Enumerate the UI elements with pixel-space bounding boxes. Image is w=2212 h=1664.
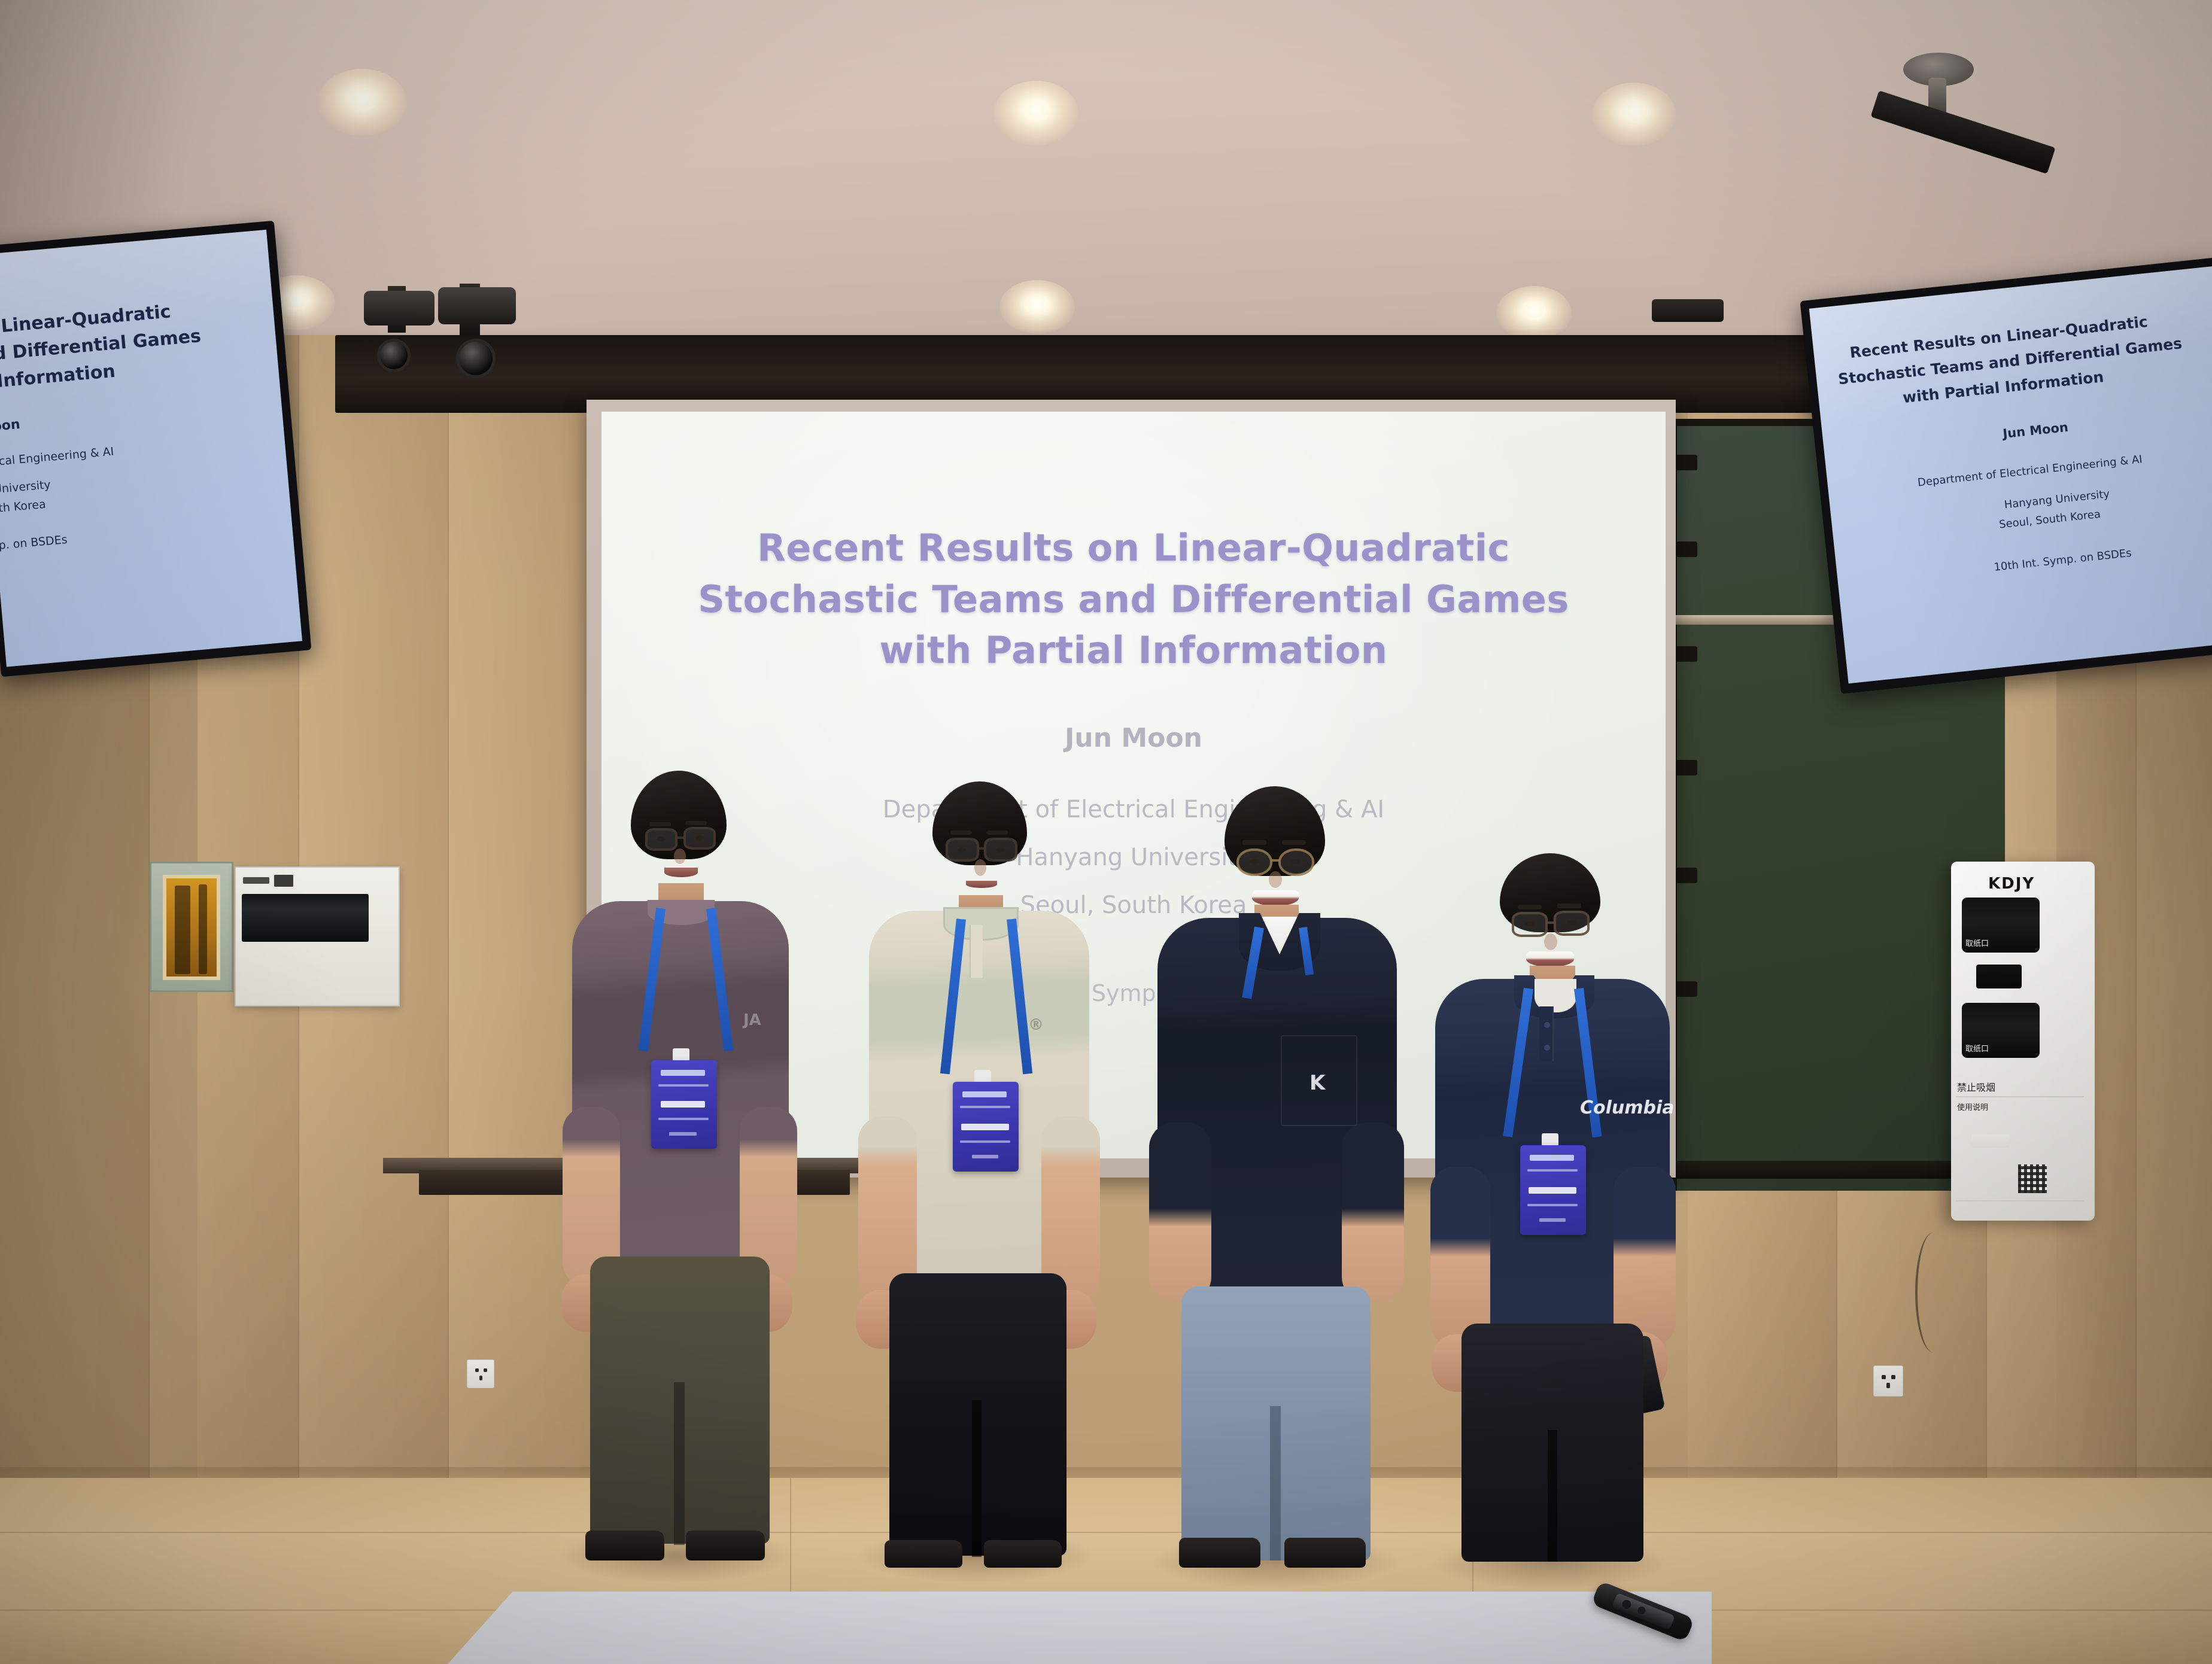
person-2-badge-logo [962, 1091, 1007, 1097]
person-4-glasses-bridge [1546, 921, 1555, 924]
person-2-brow-right [986, 831, 1008, 835]
person-2-brow-left [950, 831, 972, 835]
person-4-eye-left [1525, 921, 1535, 926]
wall-outlet-left[interactable] [467, 1359, 494, 1388]
right-wall-monitor: Recent Results on Linear-Quadratic Stoch… [1800, 257, 2212, 694]
chalkboard-clip-3 [1676, 646, 1697, 662]
fire-cabinet-glass [163, 875, 220, 980]
chalkboard-tray [1670, 1161, 1951, 1179]
left-monitor-screen: on Linear-Quadratic and Differential Gam… [0, 230, 302, 667]
left-monitor-line-4: Moon [0, 417, 21, 436]
person-3-arm-right [1342, 1122, 1404, 1302]
person-4-placket [1539, 1006, 1554, 1061]
wall-unit-tray [1971, 1134, 2010, 1148]
wall-unit-window-top-label: 取纸口 [1965, 937, 1989, 948]
person-2-shoe-right [984, 1540, 1062, 1568]
person-1-badge-name [661, 1101, 705, 1108]
wall-unit-instructions: 使用说明 [1957, 1101, 1988, 1112]
person-2-pants-gap [972, 1400, 982, 1557]
left-wall-monitor: on Linear-Quadratic and Differential Gam… [0, 221, 311, 677]
ceiling-light-5 [999, 280, 1075, 334]
person-1-glasses-bridge [676, 836, 685, 839]
outlet-hole-2 [484, 1368, 487, 1372]
person-2-badge-clip [974, 1070, 991, 1083]
right-monitor-line-6: Hanyang University [2004, 488, 2110, 511]
person-3-brow-right [1282, 840, 1306, 845]
person-3-arm-left [1149, 1122, 1211, 1302]
wall-unit-window-bottom-label: 取纸口 [1965, 1042, 1989, 1054]
person-4-pants-gap [1548, 1430, 1557, 1562]
person-2-badge-name [961, 1124, 1009, 1130]
person-4-badge[interactable] [1520, 1145, 1586, 1235]
wall-outlet-right[interactable] [1873, 1365, 1903, 1397]
camera-3-bracket [1652, 299, 1724, 322]
ceiling-light-2 [993, 81, 1078, 145]
right-monitor-line-5: Department of Electrical Engineering & A… [1917, 453, 2143, 489]
left-monitor-line-5: ctrical Engineering & AI [0, 445, 114, 470]
person-4-badge-name [1529, 1187, 1576, 1194]
person-3-shoe-right [1284, 1538, 1366, 1568]
electrical-panel-label [243, 877, 269, 884]
person-2-mouth [966, 881, 997, 888]
person-4: Columbia [1430, 856, 1676, 1562]
wall-unit-brand: KDJY [1988, 875, 2035, 893]
outlet-hole-6 [1886, 1383, 1890, 1388]
chalkboard-clip-5 [1676, 868, 1697, 883]
camera-2-lens [456, 339, 496, 378]
outlet-hole-5 [1891, 1375, 1895, 1379]
person-2-badge-line-3 [972, 1155, 998, 1158]
person-4-badge-logo [1530, 1155, 1574, 1161]
wall-unit-notice: 禁止吸烟 [1957, 1079, 1995, 1094]
slide-title-line-2: Stochastic Teams and Differential Games [601, 574, 1666, 625]
person-1: JA [557, 772, 796, 1562]
slide-author: Jun Moon [601, 723, 1666, 753]
lecture-hall-photo: Recent Results on Linear-Quadratic Stoch… [0, 0, 2212, 1664]
camera-1-body [364, 291, 434, 326]
chalkboard-clip-6 [1676, 981, 1697, 997]
person-2-shirt-logo: ® [1028, 1016, 1044, 1034]
person-1-badge-logo [661, 1070, 705, 1076]
person-1-shirt-logo: JA [743, 1011, 761, 1029]
person-4-polo-button-1 [1544, 1022, 1550, 1028]
right-monitor-line-7: Seoul, South Korea [1998, 508, 2101, 531]
person-3-shoe-left [1179, 1538, 1260, 1568]
person-4-polo-button-2 [1544, 1045, 1550, 1051]
wall-unit-qr-code [2018, 1164, 2047, 1193]
person-1-badge-clip [673, 1048, 689, 1061]
person-1-nose [674, 848, 686, 864]
person-1-brow-left [649, 822, 671, 826]
person-3-shirt-logo: K [1309, 1071, 1325, 1095]
person-4-brow-right [1557, 904, 1581, 908]
person-1-eye-left [657, 836, 666, 842]
person-1-badge-line-3 [669, 1132, 697, 1136]
slide-title: Recent Results on Linear-Quadratic Stoch… [601, 522, 1666, 676]
electrical-panel-window [242, 894, 369, 942]
person-4-badge-line-1 [1527, 1169, 1578, 1172]
person-4-shirt-logo: Columbia [1580, 1097, 1675, 1118]
person-3-brow-left [1242, 840, 1266, 845]
person-2-shoe-left [885, 1540, 962, 1568]
person-1-shoe-right [686, 1531, 765, 1560]
person-2-badge-line-2 [960, 1140, 1010, 1143]
person-1-brow-right [685, 821, 707, 825]
camera-2-body [438, 287, 516, 324]
person-3-eye-right [1292, 859, 1301, 864]
wall-dispenser-unit[interactable]: KDJY 取纸口 取纸口 禁止吸烟 使用说明 [1951, 862, 2095, 1221]
person-4-brow-left [1518, 905, 1542, 909]
chalkboard-clip-2 [1676, 542, 1697, 557]
person-3-eye-left [1250, 859, 1259, 864]
person-3-mouth [1252, 890, 1299, 906]
person-1-badge-line-1 [658, 1084, 709, 1087]
fire-hose-nozzle [199, 884, 207, 974]
power-cable [1915, 1233, 1951, 1352]
left-monitor-line-7: outh Korea [0, 498, 47, 516]
camera-1-lens [377, 339, 411, 372]
person-3: K [1149, 790, 1406, 1562]
person-2: ® [856, 784, 1095, 1562]
person-3-glasses-bridge [1271, 859, 1280, 862]
person-4-nose [1544, 933, 1557, 950]
person-3-nose [1269, 871, 1282, 888]
slide-title-line-3: with Partial Information [601, 625, 1666, 676]
person-3-pants-gap [1270, 1406, 1281, 1560]
person-2-badge[interactable] [953, 1082, 1019, 1172]
person-4-badge-clip [1542, 1133, 1558, 1146]
wall-unit-window-bottom: 取纸口 [1962, 1003, 2040, 1058]
chalkboard-clip-4 [1676, 760, 1697, 775]
wall-unit-divider [1956, 1096, 2084, 1097]
person-1-badge[interactable] [651, 1060, 717, 1149]
person-4-arm-left [1430, 1167, 1490, 1346]
person-4-eye-right [1567, 920, 1576, 925]
outlet-hole-3 [479, 1376, 482, 1380]
person-4-mouth [1526, 951, 1574, 967]
wall-unit-window-top: 取纸口 [1962, 898, 2040, 953]
person-2-nose [974, 859, 986, 876]
person-2-glasses-bridge [978, 847, 985, 850]
wall-unit-divider-2 [1956, 1200, 2084, 1201]
slide-title-line-1: Recent Results on Linear-Quadratic [601, 522, 1666, 574]
electrical-panel-button[interactable] [274, 875, 293, 887]
left-monitor-line-6: g University [0, 478, 51, 497]
person-4-badge-line-2 [1527, 1204, 1578, 1206]
wall-unit-slot [1976, 965, 2022, 988]
right-monitor-screen: Recent Results on Linear-Quadratic Stoch… [1809, 266, 2212, 684]
ceiling-light-1 [317, 69, 407, 136]
person-2-eye-right [996, 847, 1004, 853]
person-1-shoe-left [585, 1531, 664, 1560]
person-2-badge-line-1 [960, 1106, 1010, 1108]
person-1-pants-gap [674, 1382, 685, 1545]
outlet-hole-1 [475, 1368, 479, 1372]
person-4-badge-line-3 [1539, 1218, 1566, 1222]
left-monitor-line-8: mp. on BSDEs [0, 533, 68, 553]
person-1-mouth [664, 868, 698, 877]
chalkboard-clip-1 [1676, 455, 1697, 470]
outlet-hole-4 [1882, 1375, 1886, 1379]
person-1-badge-line-2 [658, 1118, 709, 1120]
person-2-eye-left [958, 847, 966, 853]
ceiling-light-3 [1592, 83, 1676, 146]
floor-seam-1 [0, 1532, 2212, 1533]
fire-hose [175, 886, 190, 974]
person-2-polo-placket [970, 925, 983, 978]
podium-table [443, 1592, 1712, 1664]
person-1-eye-right [695, 835, 704, 841]
person-4-arm-right [1614, 1167, 1676, 1346]
right-monitor-line-8: 10th Int. Symp. on BSDEs [1994, 547, 2132, 574]
